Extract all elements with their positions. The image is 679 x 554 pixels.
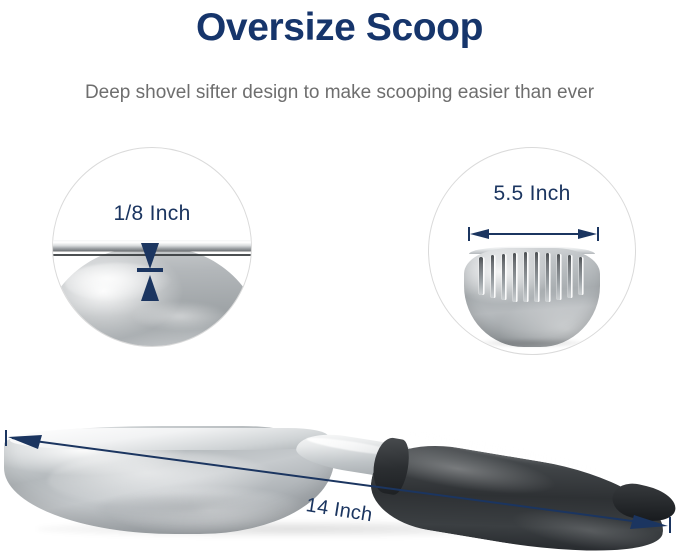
sifter-slot <box>568 255 571 298</box>
detail-circle-width: 5.5 Inch <box>428 147 636 355</box>
sifter-slot <box>513 253 516 302</box>
double-arrow-diagonal-icon <box>0 388 679 554</box>
thickness-measure-bar <box>137 268 163 272</box>
page-title: Oversize Scoop <box>0 4 679 52</box>
sifter-slot <box>546 253 549 302</box>
sifter-slot <box>535 252 538 302</box>
sifter-slot <box>557 254 560 300</box>
sifter-slot <box>502 254 505 300</box>
arrow-up-icon <box>141 275 159 301</box>
scoop-head-illustration <box>429 148 635 354</box>
detail-circle-thickness: 1/8 Inch <box>52 147 252 347</box>
sifter-slot <box>479 257 482 294</box>
width-label: 5.5 Inch <box>429 182 635 206</box>
scoop-head-shadow <box>470 338 594 348</box>
sifter-slots <box>479 252 582 302</box>
sifter-slot <box>579 257 582 294</box>
product-infographic: Oversize Scoop Deep shovel sifter design… <box>0 0 679 554</box>
arrow-down-icon <box>141 243 159 269</box>
sifter-slot <box>491 255 494 298</box>
hero-product-image: 14 Inch <box>0 388 679 554</box>
page-subtitle: Deep shovel sifter design to make scoopi… <box>0 80 679 106</box>
sifter-slot <box>524 252 527 302</box>
double-arrow-horizontal-icon <box>467 226 600 242</box>
thickness-label: 1/8 Inch <box>53 202 251 226</box>
